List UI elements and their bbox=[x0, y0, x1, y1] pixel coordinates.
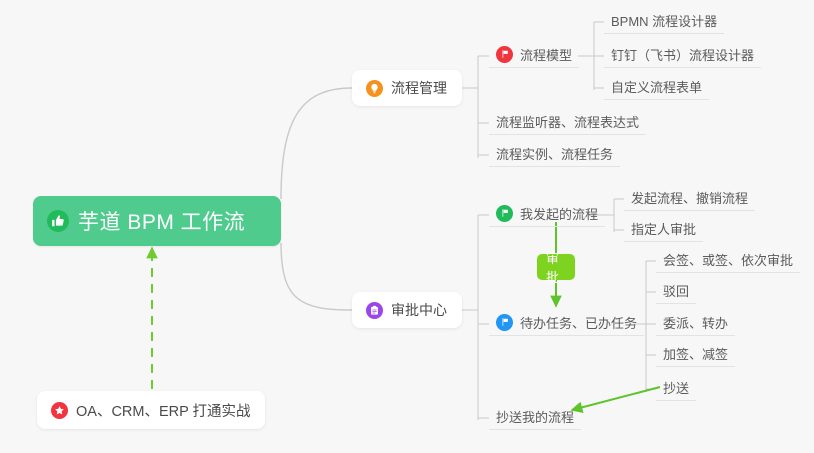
node-approval-center[interactable]: 审批中心 bbox=[352, 292, 462, 328]
node-my-initiated-process[interactable]: 我发起的流程 bbox=[489, 203, 605, 227]
node-integration-note-label: OA、CRM、ERP 打通实战 bbox=[76, 400, 251, 421]
star-icon bbox=[51, 402, 68, 419]
node-bpmn-designer-label: BPMN 流程设计器 bbox=[611, 11, 717, 30]
node-custom-form[interactable]: 自定义流程表单 bbox=[604, 76, 709, 100]
node-cc-my-process[interactable]: 抄送我的流程 bbox=[489, 406, 581, 430]
node-add-remove-sign[interactable]: 加签、减签 bbox=[656, 343, 735, 367]
node-dingtalk-designer[interactable]: 钉钉（飞书）流程设计器 bbox=[604, 44, 761, 68]
node-process-management-label: 流程管理 bbox=[391, 78, 447, 98]
node-cc-my-process-label: 抄送我的流程 bbox=[496, 407, 574, 426]
node-process-listener[interactable]: 流程监听器、流程表达式 bbox=[489, 111, 646, 135]
node-bpmn-designer[interactable]: BPMN 流程设计器 bbox=[604, 10, 724, 34]
node-reject[interactable]: 驳回 bbox=[656, 280, 696, 304]
edge-root-to-process-mgmt bbox=[281, 88, 352, 199]
flag-icon bbox=[496, 314, 513, 331]
node-dingtalk-designer-label: 钉钉（飞书）流程设计器 bbox=[611, 45, 754, 64]
node-delegate-transfer-label: 委派、转办 bbox=[663, 313, 728, 332]
root-label: 芋道 BPM 工作流 bbox=[78, 206, 245, 236]
node-process-management[interactable]: 流程管理 bbox=[352, 70, 462, 106]
node-todo-done-tasks-label: 待办任务、已办任务 bbox=[520, 313, 637, 332]
thumbs-up-icon bbox=[47, 210, 69, 232]
clipboard-icon bbox=[366, 302, 383, 319]
flag-icon bbox=[496, 46, 513, 63]
node-process-model-label: 流程模型 bbox=[520, 45, 572, 64]
edge-root-to-approval-center bbox=[281, 243, 352, 310]
flag-icon bbox=[496, 205, 513, 222]
node-countersign-label: 会签、或签、依次审批 bbox=[663, 250, 793, 269]
node-designated-approver-label: 指定人审批 bbox=[631, 219, 696, 238]
node-process-instance[interactable]: 流程实例、流程任务 bbox=[489, 143, 620, 167]
approve-badge: 审批 bbox=[537, 254, 575, 280]
root-node[interactable]: 芋道 BPM 工作流 bbox=[33, 196, 281, 246]
node-my-initiated-process-label: 我发起的流程 bbox=[520, 204, 598, 223]
node-designated-approver[interactable]: 指定人审批 bbox=[624, 218, 703, 242]
node-process-instance-label: 流程实例、流程任务 bbox=[496, 144, 613, 163]
node-custom-form-label: 自定义流程表单 bbox=[611, 77, 702, 96]
node-reject-label: 驳回 bbox=[663, 281, 689, 300]
approve-badge-label: 审批 bbox=[546, 248, 566, 286]
node-start-cancel-process-label: 发起流程、撤销流程 bbox=[631, 188, 748, 207]
node-process-model[interactable]: 流程模型 bbox=[489, 44, 579, 68]
node-countersign[interactable]: 会签、或签、依次审批 bbox=[656, 249, 800, 273]
node-process-listener-label: 流程监听器、流程表达式 bbox=[496, 112, 639, 131]
node-delegate-transfer[interactable]: 委派、转办 bbox=[656, 312, 735, 336]
node-approval-center-label: 审批中心 bbox=[391, 300, 447, 320]
node-start-cancel-process[interactable]: 发起流程、撤销流程 bbox=[624, 187, 755, 211]
arrow-cc-to-cc-my-process bbox=[572, 387, 660, 410]
node-todo-done-tasks[interactable]: 待办任务、已办任务 bbox=[489, 312, 644, 336]
mindmap-canvas: 芋道 BPM 工作流 流程管理 流程模型 BPMN 流程设计器 钉钉（飞书）流程… bbox=[0, 0, 814, 453]
node-cc-label: 抄送 bbox=[663, 378, 689, 397]
node-add-remove-sign-label: 加签、减签 bbox=[663, 344, 728, 363]
node-cc[interactable]: 抄送 bbox=[656, 377, 696, 401]
lightbulb-icon bbox=[366, 80, 383, 97]
node-integration-note[interactable]: OA、CRM、ERP 打通实战 bbox=[37, 391, 265, 429]
